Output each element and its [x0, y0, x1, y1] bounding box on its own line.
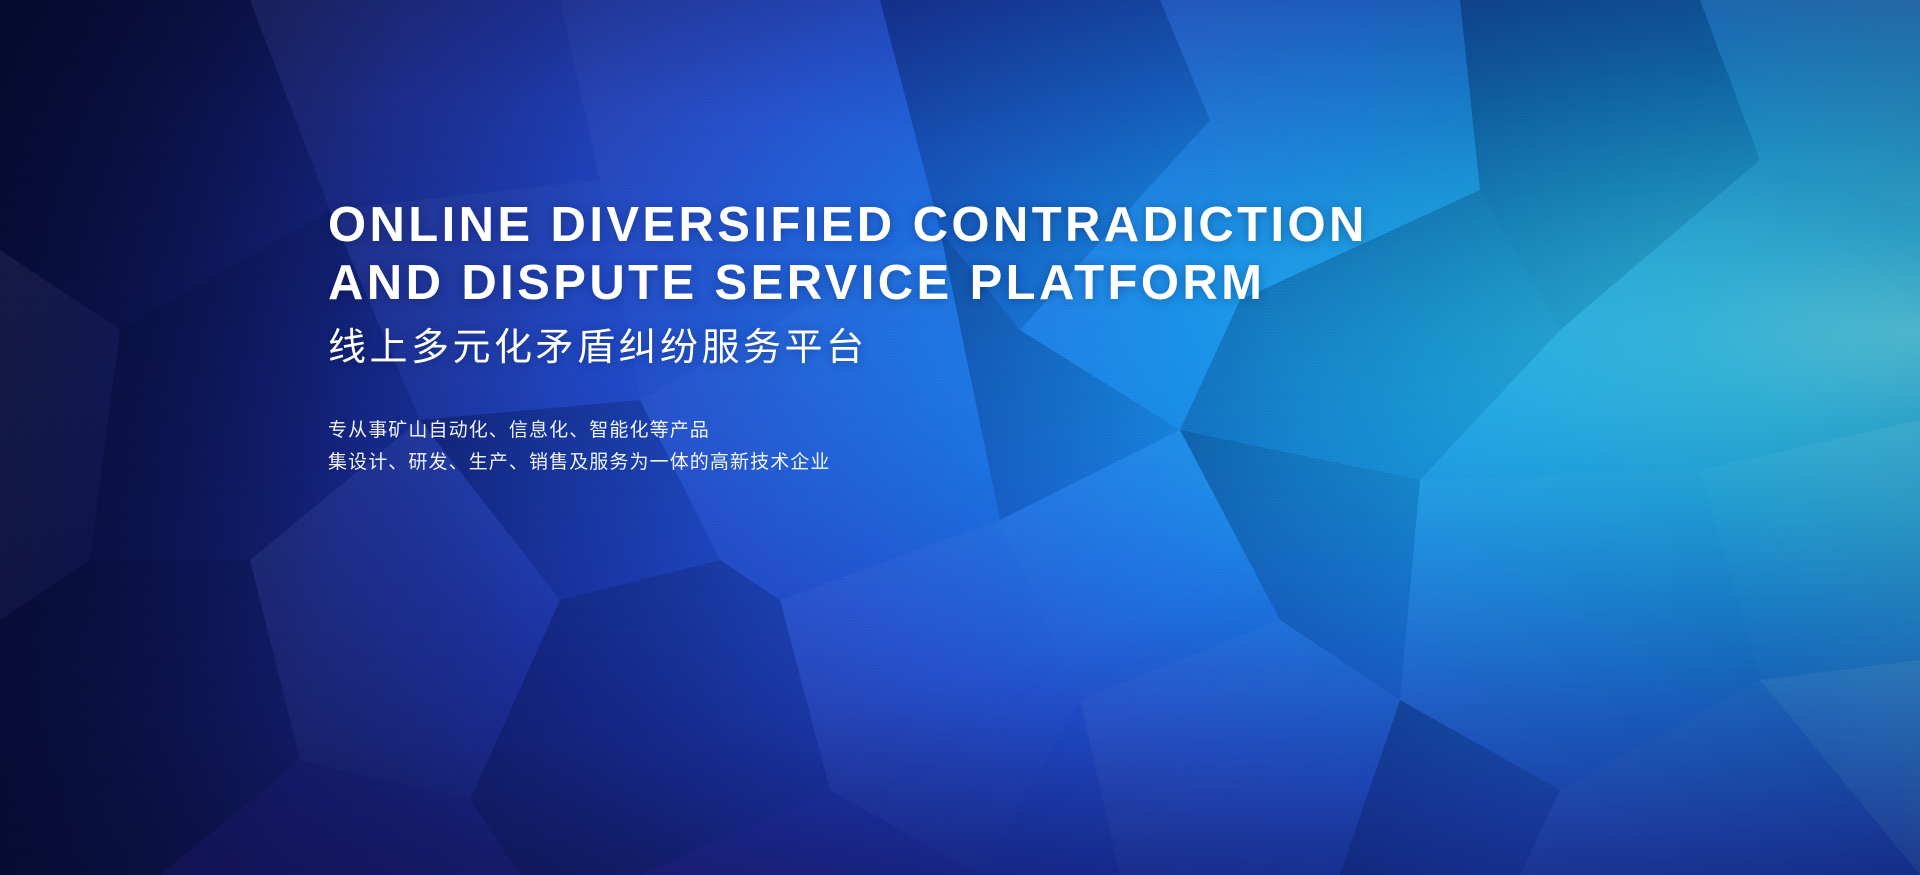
hero-headline-en: ONLINE DIVERSIFIED CONTRADICTION AND DIS…: [328, 196, 1648, 312]
hero-description-line-1: 专从事矿山自动化、信息化、智能化等产品: [328, 415, 1648, 447]
hero-headline-line-2: AND DISPUTE SERVICE PLATFORM: [328, 254, 1648, 312]
hero-description: 专从事矿山自动化、信息化、智能化等产品 集设计、研发、生产、销售及服务为一体的高…: [328, 415, 1648, 479]
hero-banner: ONLINE DIVERSIFIED CONTRADICTION AND DIS…: [0, 0, 1920, 875]
hero-headline-line-1: ONLINE DIVERSIFIED CONTRADICTION: [328, 196, 1648, 254]
hero-description-line-2: 集设计、研发、生产、销售及服务为一体的高新技术企业: [328, 447, 1648, 479]
hero-content: ONLINE DIVERSIFIED CONTRADICTION AND DIS…: [328, 196, 1648, 479]
hero-subtitle-zh: 线上多元化矛盾纠纷服务平台: [328, 325, 1648, 371]
